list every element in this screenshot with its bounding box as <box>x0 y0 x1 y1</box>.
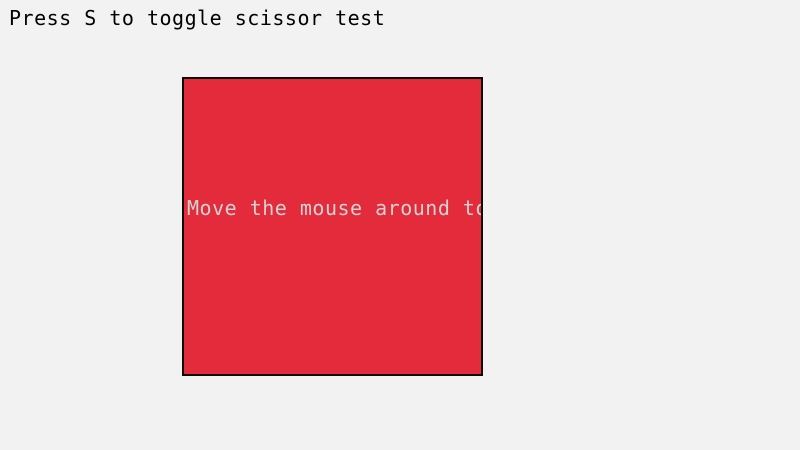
scissor-rectangle[interactable]: Move the mouse around to reveal this tex… <box>182 77 483 376</box>
app-window: Press S to toggle scissor test Move the … <box>0 0 800 450</box>
scissor-clipped-text: Move the mouse around to reveal this tex… <box>187 196 483 220</box>
scissor-fill <box>184 79 481 374</box>
scissor-toggle-hint: Press S to toggle scissor test <box>9 6 385 30</box>
